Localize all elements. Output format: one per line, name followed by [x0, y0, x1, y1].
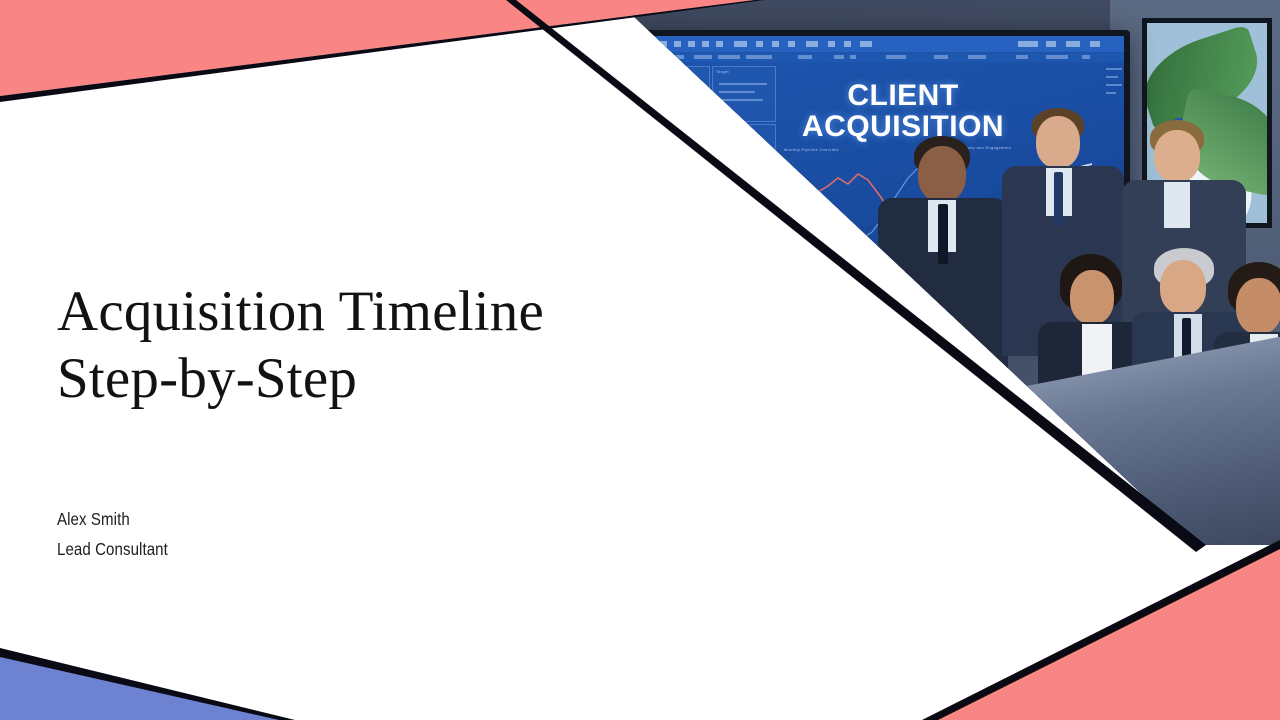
presenter-role: Lead Consultant — [57, 534, 418, 564]
presentation-slide: CLIENT ACQUISITION Insight Target — [0, 0, 1280, 720]
title-line-2: Step-by-Step — [57, 347, 357, 410]
presenter-name: Alex Smith — [57, 504, 418, 534]
page-title: Acquisition Timeline Step-by-Step — [57, 279, 617, 412]
shape-outline-photo-left — [506, 0, 1206, 552]
title-line-1: Acquisition Timeline — [57, 280, 544, 343]
presenter-block: Alex Smith Lead Consultant — [57, 504, 477, 564]
